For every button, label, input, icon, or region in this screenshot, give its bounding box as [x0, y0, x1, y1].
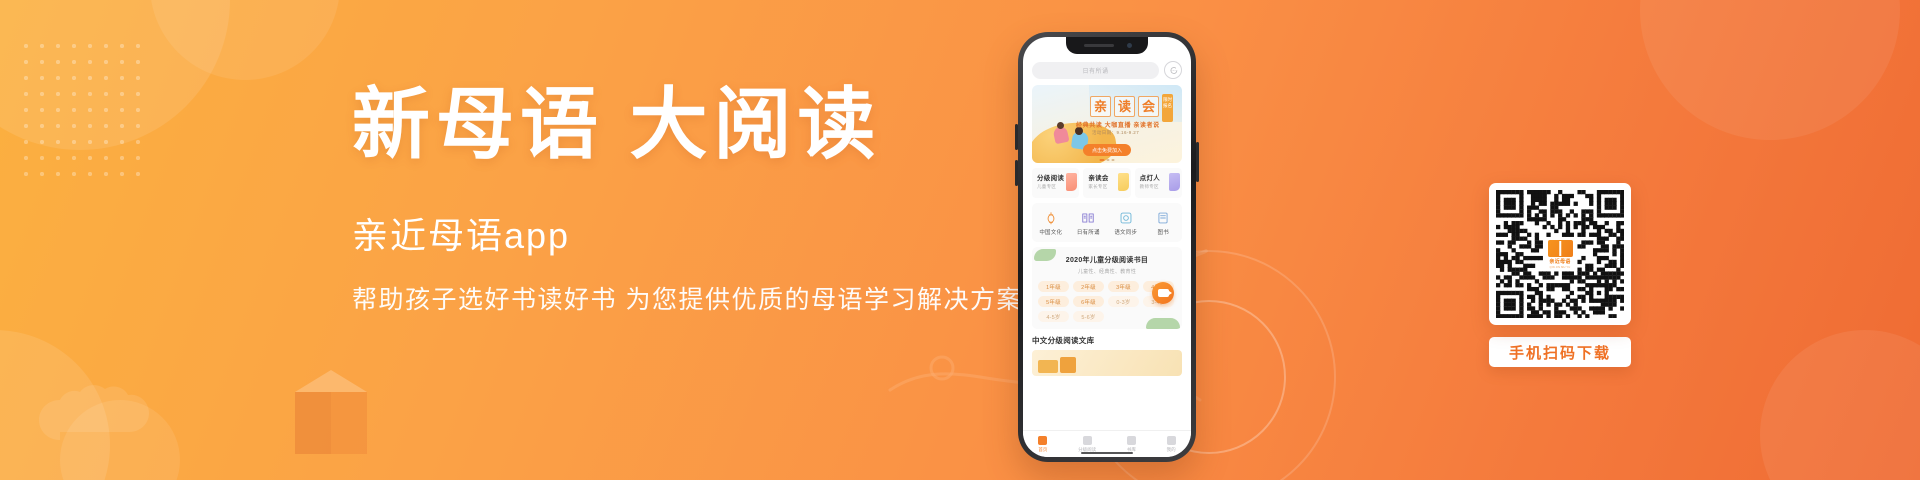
book-icon [1156, 210, 1171, 225]
grade-chip[interactable]: 2年级 [1073, 281, 1104, 292]
phone-volume-down-button [1015, 160, 1018, 186]
category-card-graded-reading[interactable]: 分级阅读 儿童专区 [1032, 168, 1079, 198]
booklist-title: 2020年儿童分级阅读书目 [1038, 255, 1176, 265]
phone-mockup: 日有所诵 [1018, 32, 1196, 462]
tab-library[interactable]: 书库 [1127, 436, 1136, 453]
category-card-teacher[interactable]: 点灯人 教师专区 [1135, 168, 1182, 198]
category-card-parent-club[interactable]: 亲读会 家长专区 [1083, 168, 1130, 198]
book-thumb [1038, 360, 1058, 373]
bookmark-icon [1169, 173, 1180, 191]
decor-blob [150, 0, 340, 80]
promo-banner: 新母语 大阅读 亲近母语app 帮助孩子选好书读好书 为您提供优质的母语学习解决… [0, 0, 1920, 480]
phone-power-button [1196, 142, 1199, 182]
search-placeholder: 日有所诵 [1082, 66, 1108, 75]
square-sync-icon [1118, 210, 1133, 225]
reading-icon [1083, 436, 1092, 445]
grade-chip[interactable]: 6年级 [1073, 296, 1104, 307]
book-logo-icon [1548, 240, 1573, 257]
quick-icon-label: 中国文化 [1039, 228, 1062, 236]
copy-block: 新母语 大阅读 亲近母语app 帮助孩子选好书读好书 为您提供优质的母语学习解决… [352, 86, 1052, 313]
library-icon [1127, 436, 1136, 445]
quick-icon-row: 中国文化 日有所诵 [1032, 203, 1182, 242]
quick-icon-label: 图书 [1158, 228, 1169, 236]
decor-blob [1760, 330, 1920, 480]
hero-date-label: 活动日期：9.16-9.27 [1092, 130, 1139, 136]
video-play-button[interactable] [1152, 282, 1174, 304]
scan-download-label: 手机扫码下载 [1509, 342, 1611, 363]
tab-label: 我的 [1167, 447, 1176, 453]
cloud-decor [20, 380, 220, 470]
lantern-icon [1043, 210, 1058, 225]
grade-chip[interactable]: 3年级 [1108, 281, 1139, 292]
booklist-section: 2020年儿童分级阅读书目 儿童性、经典性、教育性 1年级 2年级 3年级 4年… [1032, 247, 1182, 329]
camera-icon [1127, 43, 1132, 48]
grade-chip[interactable]: 5年级 [1038, 296, 1069, 307]
qr-download-block: 亲近母语 QIN JIN MU YU 手机扫码下载 [1489, 183, 1631, 367]
hero-child-illustration [1057, 122, 1064, 129]
app-search-bar: 日有所诵 [1032, 61, 1182, 79]
tab-graded-reading[interactable]: 分级阅读 [1078, 436, 1096, 453]
book-thumb [1060, 357, 1076, 373]
age-chip[interactable]: 0-3岁 [1108, 296, 1139, 307]
home-indicator [1081, 452, 1133, 455]
quick-icon-textbook-sync[interactable]: 语文同步 [1109, 210, 1143, 236]
user-icon [1167, 436, 1176, 445]
quick-icon-label: 语文同步 [1114, 228, 1137, 236]
tab-profile[interactable]: 我的 [1167, 436, 1176, 453]
hero-flag-badge: 限时报名 [1162, 94, 1173, 122]
speaker-icon [1084, 44, 1114, 47]
qr-logo-pinyin: QIN JIN MU YU [1550, 266, 1571, 269]
library-preview-strip[interactable] [1032, 350, 1182, 376]
hero-promo-banner[interactable]: 亲 读 会 限时报名 经典共读 大咖直播 亲读者说 活动日期：9.16-9.27… [1032, 85, 1182, 163]
hero-subtitle: 经典共读 大咖直播 亲读者说 [1076, 120, 1160, 129]
qr-code-card: 亲近母语 QIN JIN MU YU [1489, 183, 1631, 325]
booklist-subtitle: 儿童性、经典性、教育性 [1038, 268, 1176, 275]
qr-center-logo: 亲近母语 QIN JIN MU YU [1543, 237, 1577, 271]
tagline-label: 帮助孩子选好书读好书 为您提供优质的母语学习解决方案 [352, 288, 1052, 313]
library-section-title: 中文分级阅读文库 [1032, 335, 1182, 346]
phone-screen: 日有所诵 [1023, 37, 1191, 457]
hero-title-char: 会 [1138, 96, 1159, 117]
quick-icon-daily-recite[interactable]: 日有所诵 [1071, 210, 1105, 236]
hero-title: 亲 读 会 [1090, 96, 1159, 117]
phone-notch [1066, 37, 1148, 54]
quick-icon-books[interactable]: 图书 [1146, 210, 1180, 236]
carousel-dots[interactable] [1100, 159, 1115, 161]
age-chip[interactable]: 5-6岁 [1073, 311, 1104, 322]
video-camera-icon [1158, 289, 1169, 297]
dot-grid-decor [18, 38, 148, 183]
scan-download-button[interactable]: 手机扫码下载 [1489, 337, 1631, 367]
bookmark-icon [1066, 173, 1077, 191]
open-book-icon [1081, 210, 1096, 225]
grade-chip[interactable]: 1年级 [1038, 281, 1069, 292]
app-name-label: 亲近母语app [352, 218, 1052, 254]
qr-logo-name: 亲近母语 [1549, 258, 1570, 265]
hero-join-button[interactable]: 点击免费加入 [1083, 144, 1131, 156]
tab-label: 首页 [1038, 447, 1047, 453]
grade-chip-grid: 1年级 2年级 3年级 4年级 5年级 6年级 0-3岁 3-4岁 4-5岁 5… [1038, 281, 1176, 322]
hero-title-char: 亲 [1090, 96, 1111, 117]
age-chip[interactable]: 4-5岁 [1038, 311, 1069, 322]
quick-icon-chinese-culture[interactable]: 中国文化 [1034, 210, 1068, 236]
home-icon [1038, 436, 1047, 445]
tab-home[interactable]: 首页 [1038, 436, 1047, 453]
search-input[interactable]: 日有所诵 [1032, 62, 1159, 79]
bookmark-icon [1118, 173, 1129, 191]
phone-volume-up-button [1015, 124, 1018, 150]
category-card-list: 分级阅读 儿童专区 亲读会 家长专区 点灯人 教师专区 [1032, 168, 1182, 198]
quick-icon-label: 日有所诵 [1077, 228, 1100, 236]
page-title: 新母语 大阅读 [352, 86, 1052, 164]
decor-blob [1640, 0, 1900, 140]
hero-title-char: 读 [1114, 96, 1135, 117]
message-icon[interactable] [1164, 61, 1182, 79]
